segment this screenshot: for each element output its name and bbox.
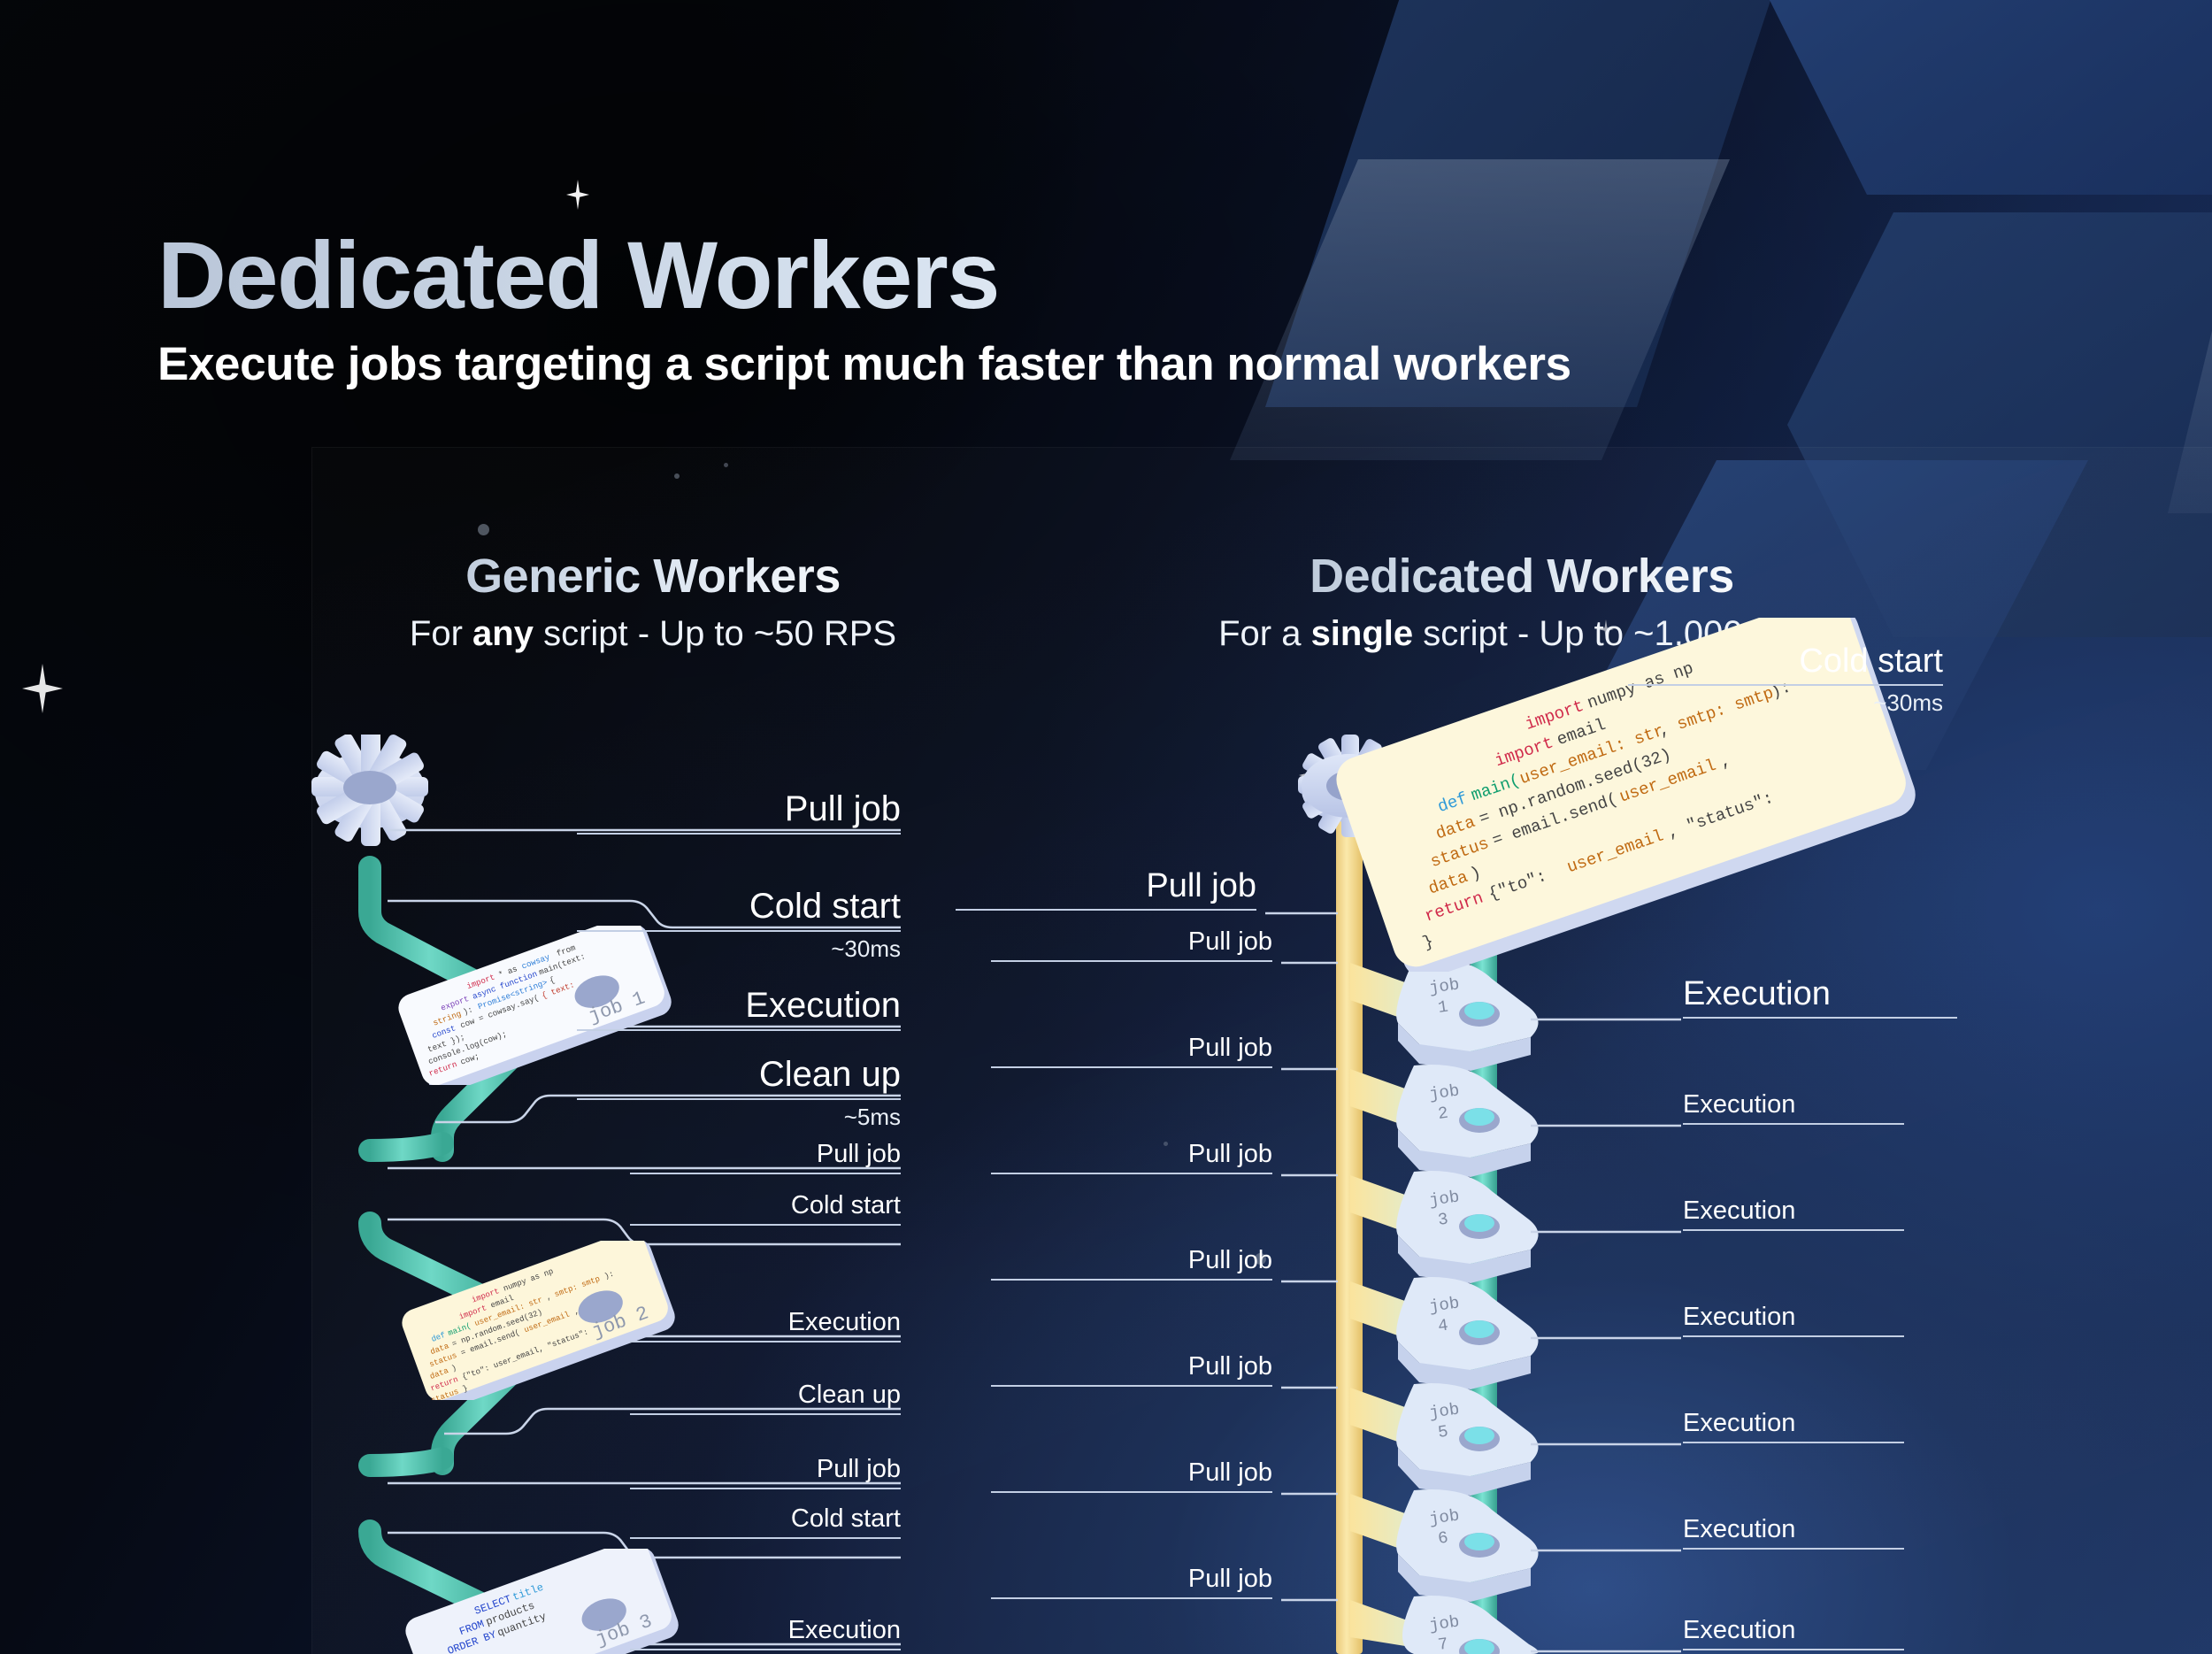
- page-header: Dedicated Workers Execute jobs targeting…: [157, 226, 2016, 391]
- column-title-dedicated: Dedicated Workers: [1186, 549, 1858, 604]
- execution-label: Execution: [1683, 1090, 1904, 1125]
- pull-job-text: Pull job: [991, 1034, 1272, 1068]
- execution-label: Execution: [1683, 1303, 1904, 1337]
- cold-start-duration: ~30ms: [1628, 689, 1943, 717]
- step-label: Execution: [630, 1616, 901, 1650]
- step-label: Execution: [630, 1308, 901, 1342]
- pull-job-text: Pull job: [991, 1458, 1272, 1493]
- step-label-text: Execution: [630, 1308, 901, 1342]
- cold-start-text: Cold start: [1628, 642, 1943, 686]
- pull-job-text: Pull job: [991, 1246, 1272, 1281]
- column-title-generic: Generic Workers: [317, 549, 989, 604]
- step-label: Pull job: [630, 1140, 901, 1174]
- poster-canvas: Dedicated Workers Execute jobs targeting…: [0, 0, 2212, 1654]
- pull-job-label: Pull job: [991, 1458, 1272, 1493]
- step-label-text: Cold start: [630, 1191, 901, 1226]
- step-label: Clean up: [630, 1381, 901, 1415]
- dedicated-workers-diagram: job 1 job 2 job 3: [1265, 726, 2212, 1654]
- step-label-text: Execution: [630, 1616, 901, 1650]
- pull-job-text: Pull job: [991, 1140, 1272, 1174]
- step-label-text: Cold start: [630, 1504, 901, 1539]
- execution-label: Execution: [1683, 1196, 1904, 1231]
- step-label: Execution: [577, 986, 901, 1031]
- pull-job-label: Pull job: [991, 1246, 1272, 1281]
- pull-job-label: Pull job: [991, 1352, 1272, 1387]
- step-label-text: Pull job: [577, 789, 901, 835]
- step-duration: ~5ms: [577, 1104, 901, 1131]
- page-title: Dedicated Workers: [157, 226, 2016, 325]
- pull-job-label: Pull job: [956, 867, 1256, 911]
- step-label: Pull job: [577, 789, 901, 835]
- pull-job-label: Pull job: [991, 1140, 1272, 1174]
- decorative-dot: [674, 473, 680, 479]
- step-label-text: Execution: [577, 986, 901, 1031]
- execution-text: Execution: [1683, 1303, 1904, 1337]
- cold-start-label: Cold start ~30ms: [1628, 642, 1943, 717]
- pull-job-label: Pull job: [991, 1034, 1272, 1068]
- decorative-dot: [724, 463, 728, 467]
- step-label-text: Cold start: [577, 887, 901, 932]
- execution-text: Execution: [1683, 1196, 1904, 1231]
- step-label-text: Clean up: [577, 1055, 901, 1100]
- subtitle-post: script - Up to ~50 RPS: [534, 614, 896, 653]
- step-label-text: Clean up: [630, 1381, 901, 1415]
- pull-job-text: Pull job: [991, 1352, 1272, 1387]
- execution-text: Execution: [1683, 1090, 1904, 1125]
- execution-label: Execution: [1683, 1409, 1904, 1443]
- execution-text: Execution: [1683, 1409, 1904, 1443]
- execution-text: Execution: [1683, 1515, 1904, 1550]
- execution-text: Execution: [1683, 1616, 1904, 1650]
- pull-job-text: Pull job: [991, 927, 1272, 962]
- subtitle-strong: any: [472, 614, 534, 653]
- step-label-text: Pull job: [630, 1140, 901, 1174]
- step-label: Cold start ~30ms: [577, 887, 901, 963]
- step-duration: ~30ms: [577, 935, 901, 963]
- pull-job-label: Pull job: [991, 927, 1272, 962]
- execution-text: Execution: [1683, 975, 1957, 1019]
- pull-job-text: Pull job: [956, 867, 1256, 911]
- subtitle-pre: For: [410, 614, 472, 653]
- pull-job-label: Pull job: [991, 1565, 1272, 1599]
- execution-label: Execution: [1683, 1616, 1904, 1650]
- page-subtitle: Execute jobs targeting a script much fas…: [157, 337, 2016, 391]
- step-label: Cold start: [630, 1504, 901, 1539]
- decorative-dot: [478, 524, 489, 535]
- column-heading-generic: Generic Workers For any script - Up to ~…: [317, 549, 989, 654]
- step-label-text: Pull job: [630, 1455, 901, 1489]
- step-label: Clean up ~5ms: [577, 1055, 901, 1131]
- execution-label: Execution: [1683, 975, 1957, 1019]
- column-subtitle-generic: For any script - Up to ~50 RPS: [317, 614, 989, 654]
- step-label: Cold start: [630, 1191, 901, 1226]
- execution-label: Execution: [1683, 1515, 1904, 1550]
- pull-job-text: Pull job: [991, 1565, 1272, 1599]
- step-label: Pull job: [630, 1455, 901, 1489]
